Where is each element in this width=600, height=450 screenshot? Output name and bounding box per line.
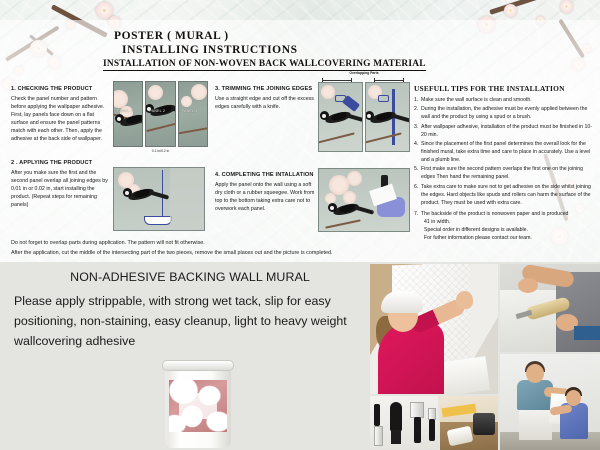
step-1-body: Check the panel number and pattern befor… xyxy=(11,95,111,143)
tip-item: 4.Since the placement of the first panel… xyxy=(414,140,596,164)
bucket-label xyxy=(169,380,227,432)
adhesive-bucket-image xyxy=(162,360,234,448)
mural-panel-3-label: PANEL 3 xyxy=(182,109,198,113)
product-description-text: NON-ADHESIVE BACKING WALL MURAL Please a… xyxy=(14,270,366,351)
useful-tips-block: USEFULL TIPS FOR THE INSTALLATION 1.Make… xyxy=(414,84,596,243)
tips-heading: USEFULL TIPS FOR THE INSTALLATION xyxy=(414,84,596,93)
cutter-knife-icon xyxy=(342,95,360,112)
page-subtitle: INSTALLATION OF NON-WOVEN BACK WALLCOVER… xyxy=(103,59,426,71)
step-2-body: After you make sure the first and the se… xyxy=(11,169,111,209)
bucket-rim xyxy=(162,360,234,371)
product-title: NON-ADHESIVE BACKING WALL MURAL xyxy=(14,270,366,284)
installation-photo-collage xyxy=(370,262,600,450)
step-4-illustration xyxy=(318,168,410,232)
tip-item-sub: 41 in width. Special order in different … xyxy=(421,218,596,242)
mural-panel-1-label: PANEL 1 xyxy=(117,109,133,113)
overlapping-parts-caption: Overlapping Parts xyxy=(318,71,410,75)
product-description: Please apply strippable, with strong wet… xyxy=(14,291,366,351)
step-4-completing-the-installation: 4. COMPLETING THE INTALLATION Apply the … xyxy=(215,172,318,213)
bucket-label-text-band xyxy=(179,393,217,419)
step-1-heading: 1. CHECKING THE PRODUCT xyxy=(11,86,111,92)
mural-measurement-caption: 0.1 in/0.2 in xyxy=(113,149,208,153)
step-3-illustration-left xyxy=(318,82,363,152)
page-title-installing: INSTALLING INSTRUCTIONS xyxy=(122,44,298,56)
mural-three-panel-image: PANEL 1 PANEL 2 PANEL 3 xyxy=(113,81,208,147)
step-2-illustration xyxy=(113,167,205,231)
tip-item: 1.Make sure the wall surface is clean an… xyxy=(414,96,596,104)
step-3-illustration xyxy=(318,82,410,152)
poster-instruction-sheet: POSTER ( MURAL ) INSTALLING INSTRUCTIONS… xyxy=(0,0,600,450)
page-title-poster: POSTER ( MURAL ) xyxy=(114,30,229,42)
note-line-2: After the application, cut the middle of… xyxy=(11,248,441,258)
photo-man-and-boy-installing xyxy=(500,354,600,450)
tip-item: 5.First make sure the second pattern ove… xyxy=(414,165,596,181)
photo-woman-hanging-wallpaper xyxy=(370,264,498,394)
tips-list: 1.Make sure the wall surface is clean an… xyxy=(414,96,596,242)
mural-panel-3: PANEL 3 xyxy=(178,81,208,147)
tip-item: 2.During the installation, the adhesive … xyxy=(414,105,596,121)
step-2-applying-the-product: 2 . APPLYING THE PRODUCT After you make … xyxy=(11,160,111,209)
instruction-sheet-top: POSTER ( MURAL ) INSTALLING INSTRUCTIONS… xyxy=(0,0,600,262)
step-4-heading: 4. COMPLETING THE INTALLATION xyxy=(215,172,318,178)
note-line-1: Do not forget to overlap parts during ap… xyxy=(11,238,441,248)
step-3-trimming-the-joining-edges: 3. TRIMMING THE JOINING EDGES Use a stra… xyxy=(215,86,315,111)
photo-hands-with-paste-roller xyxy=(500,264,600,352)
step-3-illustration-right xyxy=(365,82,410,152)
tip-item: 7.The backside of the product is nonwove… xyxy=(414,210,596,242)
tip-item: 6.Take extra care to make sure not to ge… xyxy=(414,183,596,207)
mural-panel-2-label: PANEL 2 xyxy=(149,109,165,113)
application-notes: Do not forget to overlap parts during ap… xyxy=(11,238,441,259)
tip-item: 3.After wallpaper adhesive, installation… xyxy=(414,123,596,139)
photo-paste-table-supplies xyxy=(440,396,498,450)
mural-panel-2: PANEL 2 xyxy=(145,81,175,147)
product-description-section: NON-ADHESIVE BACKING WALL MURAL Please a… xyxy=(0,262,600,450)
mural-panel-1: PANEL 1 xyxy=(113,81,143,147)
step-2-heading: 2 . APPLYING THE PRODUCT xyxy=(11,160,111,166)
photo-wallpaper-tools xyxy=(370,396,438,450)
step-4-body: Apply the panel onto the wall using a so… xyxy=(215,181,318,213)
step-3-body: Use a straight edge and cut off the exce… xyxy=(215,95,315,111)
step-3-heading: 3. TRIMMING THE JOINING EDGES xyxy=(215,86,315,92)
step-1-checking-the-product: 1. CHECKING THE PRODUCT Check the panel … xyxy=(11,86,111,143)
